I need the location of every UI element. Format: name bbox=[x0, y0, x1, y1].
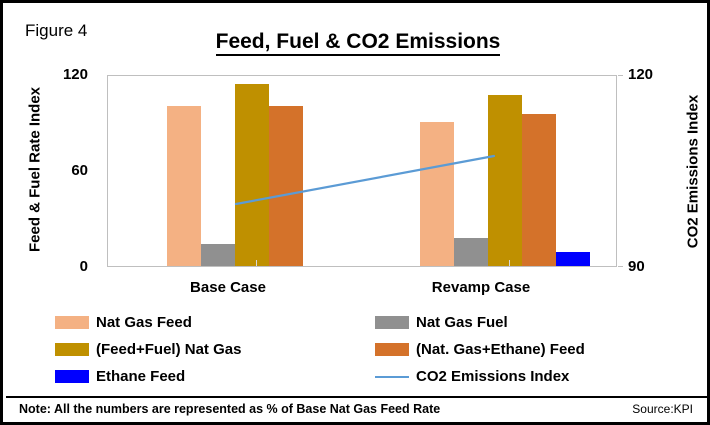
chart-legend: Nat Gas Feed Nat Gas Fuel (Feed+Fuel) Na… bbox=[55, 309, 675, 390]
legend-item-ethane-feed[interactable]: Ethane Feed bbox=[55, 368, 375, 385]
legend-item-feed-fuel-nat-gas[interactable]: (Feed+Fuel) Nat Gas bbox=[55, 341, 375, 358]
legend-swatch-nat-gas-ethane-feed bbox=[375, 343, 409, 356]
legend-swatch-ethane-feed bbox=[55, 370, 89, 383]
legend-item-nat-gas-feed[interactable]: Nat Gas Feed bbox=[55, 314, 375, 331]
legend-swatch-co2-emissions-index bbox=[375, 370, 409, 383]
legend-label-co2-emissions-index: CO2 Emissions Index bbox=[416, 368, 569, 385]
footer-divider bbox=[6, 396, 710, 398]
legend-label-ethane-feed: Ethane Feed bbox=[96, 368, 185, 385]
y-axis-right-tick-120: 120 bbox=[628, 66, 668, 83]
y-axis-left-tick-0: 0 bbox=[48, 258, 88, 275]
footer-note: Note: All the numbers are represented as… bbox=[19, 402, 440, 416]
legend-label-nat-gas-fuel: Nat Gas Fuel bbox=[416, 314, 508, 331]
legend-row-3: Ethane Feed CO2 Emissions Index bbox=[55, 363, 675, 390]
plot-area bbox=[107, 75, 617, 267]
y-axis-right-tick-90: 90 bbox=[628, 258, 668, 275]
figure-frame: Figure 4 Feed, Fuel & CO2 Emissions Feed… bbox=[0, 0, 710, 425]
category-label-revamp-case: Revamp Case bbox=[401, 279, 561, 296]
tick-mark-right-top bbox=[618, 75, 623, 76]
legend-swatch-feed-fuel-nat-gas bbox=[55, 343, 89, 356]
legend-item-nat-gas-ethane-feed[interactable]: (Nat. Gas+Ethane) Feed bbox=[375, 341, 675, 358]
legend-swatch-nat-gas-feed bbox=[55, 316, 89, 329]
y-axis-left-tick-120: 120 bbox=[48, 66, 88, 83]
category-label-base-case: Base Case bbox=[148, 279, 308, 296]
y-axis-left-tick-60: 60 bbox=[48, 162, 88, 179]
chart-title: Feed, Fuel & CO2 Emissions bbox=[3, 30, 710, 54]
chart-title-text: Feed, Fuel & CO2 Emissions bbox=[216, 30, 501, 56]
legend-item-nat-gas-fuel[interactable]: Nat Gas Fuel bbox=[375, 314, 675, 331]
y-axis-right-title: CO2 Emissions Index bbox=[685, 77, 702, 267]
y-axis-left-title: Feed & Fuel Rate Index bbox=[27, 75, 44, 265]
legend-label-nat-gas-ethane-feed: (Nat. Gas+Ethane) Feed bbox=[416, 341, 585, 358]
legend-item-co2-emissions-index[interactable]: CO2 Emissions Index bbox=[375, 368, 675, 385]
footer-source: Source:KPI bbox=[632, 402, 693, 416]
legend-label-nat-gas-feed: Nat Gas Feed bbox=[96, 314, 192, 331]
tick-mark-right-bottom bbox=[618, 266, 623, 267]
legend-row-2: (Feed+Fuel) Nat Gas (Nat. Gas+Ethane) Fe… bbox=[55, 336, 675, 363]
legend-label-feed-fuel-nat-gas: (Feed+Fuel) Nat Gas bbox=[96, 341, 241, 358]
legend-swatch-nat-gas-fuel bbox=[375, 316, 409, 329]
legend-row-1: Nat Gas Feed Nat Gas Fuel bbox=[55, 309, 675, 336]
co2-emissions-line bbox=[108, 76, 618, 268]
